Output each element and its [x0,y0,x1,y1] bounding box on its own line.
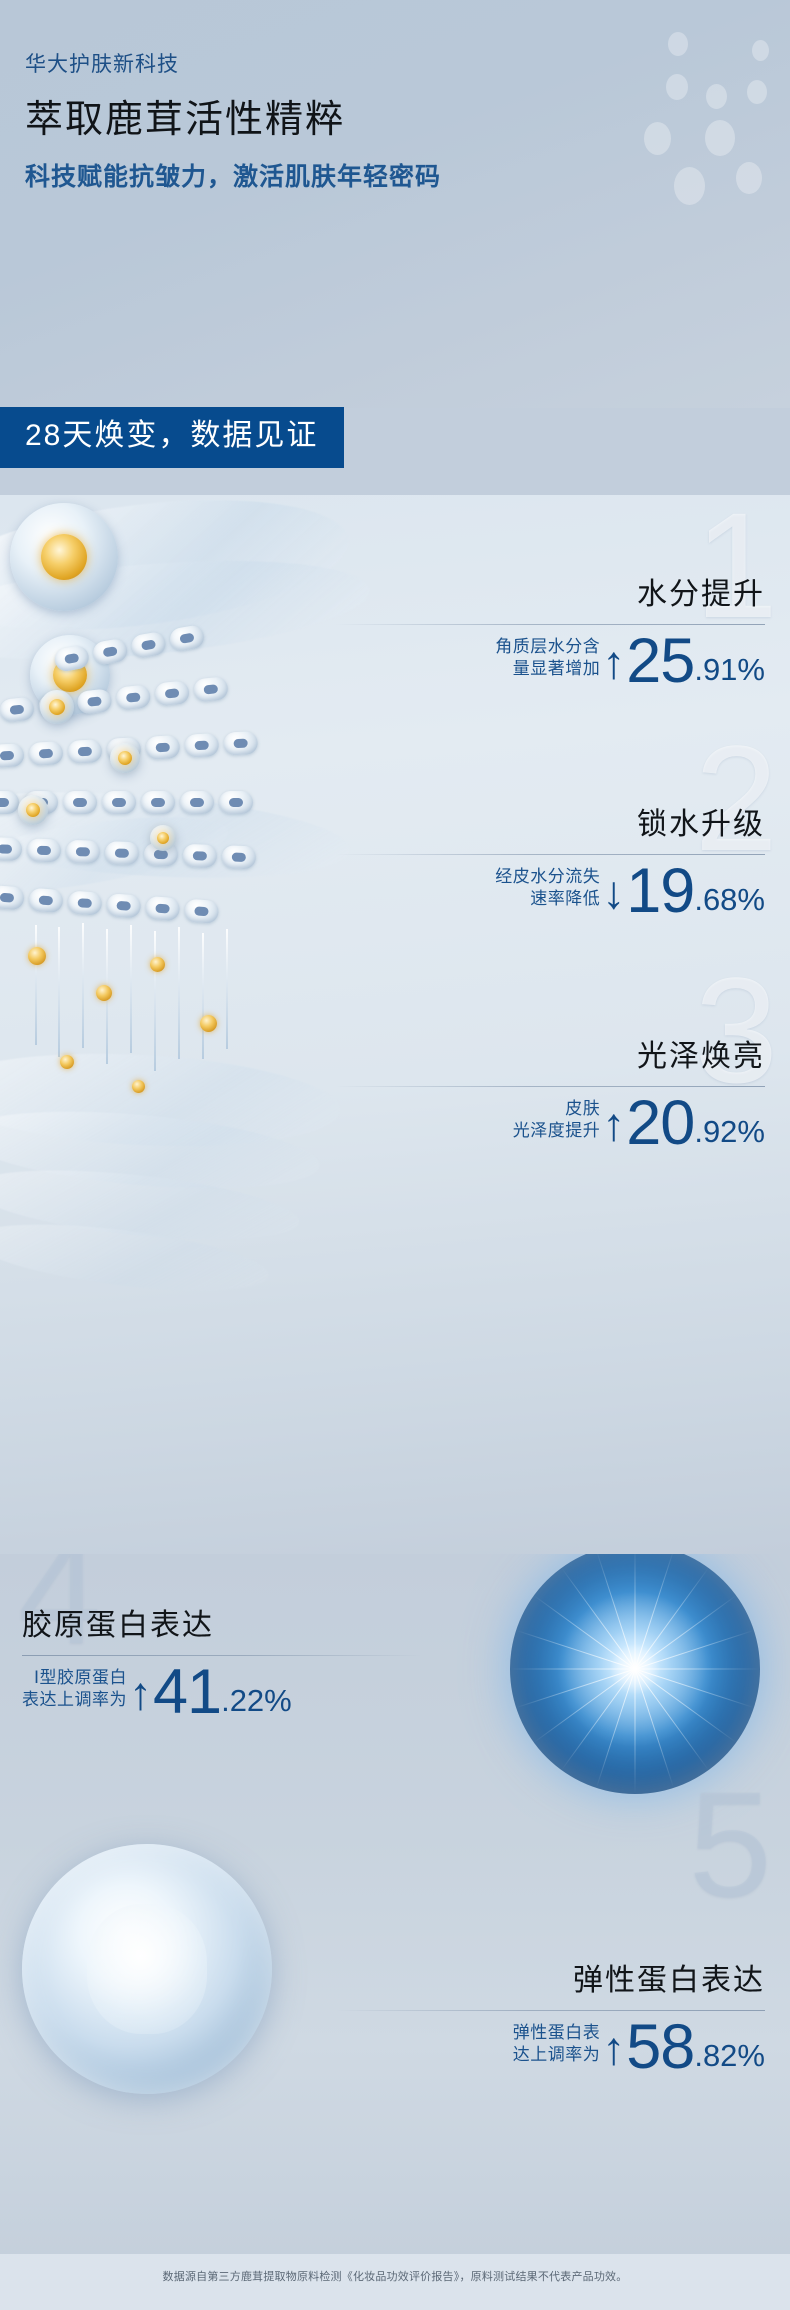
stat-divider [22,1655,422,1656]
ovum-cell [10,503,118,611]
stat-decimal-2: .68% [694,884,765,919]
stat-value-row-2: 经皮水分流失 速率降低 ↓ 19 .68% [335,865,765,919]
cell-experiment-section: 4 胶原蛋白表达 Ⅰ型胶原蛋白 表达上调率为 ↑ 41 .22% 5 弹性蛋白表… [0,1554,790,2254]
stat-number-2: 19 [626,865,694,919]
infographic-page: 华大护肤新科技 萃取鹿茸活性精粹 科技赋能抗皱力，激活肌肤年轻密码 28天焕变，… [0,0,790,2310]
stat-number-3: 20 [626,1097,694,1151]
stat-description-4: Ⅰ型胶原蛋白 表达上调率为 [22,1667,127,1720]
stat-description-2: 经皮水分流失 速率降低 [495,866,600,919]
hero-header: 华大护肤新科技 萃取鹿茸活性精粹 科技赋能抗皱力，激活肌肤年轻密码 [0,0,790,408]
stat-desc-line1: Ⅰ型胶原蛋白 [22,1667,127,1689]
stat-description-3: 皮肤 光泽度提升 [513,1098,601,1151]
stat-divider [335,624,765,625]
stat-value-row-3: 皮肤 光泽度提升 ↑ 20 .92% [335,1097,765,1151]
arrow-up-icon: ↑ [600,643,626,688]
page-title: 萃取鹿茸活性精粹 [25,97,441,145]
stat-number-5: 58 [626,2021,694,2075]
stat-desc-line2: 表达上调率为 [22,1689,127,1711]
stat-desc-line1: 角质层水分含 [495,636,600,658]
stat-divider [335,2010,765,2011]
stat-block-2: 锁水升级 经皮水分流失 速率降低 ↓ 19 .68% [335,808,765,919]
hero-text-block: 华大护肤新科技 萃取鹿茸活性精粹 科技赋能抗皱力，激活肌肤年轻密码 [25,50,441,193]
stat-description-5: 弹性蛋白表 达上调率为 [513,2022,601,2075]
gold-ovum [110,743,140,773]
orb-rays [510,1554,760,1794]
stat-desc-line2: 速率降低 [495,888,600,910]
stat-decimal-4: .22% [221,1685,292,1720]
arrow-down-icon: ↓ [600,873,626,918]
gold-ovum [150,825,176,851]
stat-block-3: 光泽焕亮 皮肤 光泽度提升 ↑ 20 .92% [335,1040,765,1151]
hero-eyebrow: 华大护肤新科技 [25,50,441,79]
arrow-up-icon: ↑ [600,1105,626,1150]
stat-divider [335,1086,765,1087]
gold-ovum [40,690,74,724]
cell-row [0,885,219,924]
stat-desc-line1: 弹性蛋白表 [513,2022,601,2044]
gold-ovum [18,795,48,825]
section-banner-clinical: 28天焕变，数据见证 [0,407,344,468]
skin-illustration-section: 1 水分提升 角质层水分含 量显著增加 ↑ 25 .91% 2 锁水升级 经皮水… [0,495,790,1554]
stat-desc-line2: 量显著增加 [495,658,600,680]
stat-desc-line1: 经皮水分流失 [495,866,600,888]
stat-value-row-1: 角质层水分含 量显著增加 ↑ 25 .91% [335,635,765,689]
stat-desc-line1: 皮肤 [513,1098,601,1120]
stat-divider [335,854,765,855]
stat-block-4: 胶原蛋白表达 Ⅰ型胶原蛋白 表达上调率为 ↑ 41 .22% [22,1609,422,1720]
stat-number-4: 41 [153,1666,221,1720]
stat-block-1: 水分提升 角质层水分含 量显著增加 ↑ 25 .91% [335,578,765,689]
stat-title-4: 胶原蛋白表达 [22,1609,422,1642]
stat-decimal-3: .92% [694,1116,765,1151]
decorative-dot-cluster [540,22,770,252]
stat-value-row-5: 弹性蛋白表 达上调率为 ↑ 58 .82% [335,2021,765,2075]
stat-decimal-1: .91% [694,654,765,689]
stat-title-1: 水分提升 [335,578,765,611]
stat-block-5: 弹性蛋白表达 弹性蛋白表 达上调率为 ↑ 58 .82% [335,1964,765,2075]
stat-desc-line2: 光泽度提升 [513,1120,601,1142]
stat-index-watermark-5: 5 [689,1769,772,1919]
stat-description-1: 角质层水分含 量显著增加 [495,636,600,689]
footer-disclaimer: 数据源自第三方鹿茸提取物原料检测《化妆品功效评价报告》，原料测试结果不代表产品功… [0,2268,790,2284]
stat-title-5: 弹性蛋白表达 [335,1964,765,1997]
stat-desc-line2: 达上调率为 [513,2044,601,2066]
arrow-up-icon: ↑ [127,1674,153,1719]
glowing-orb-image [510,1554,760,1794]
stat-title-2: 锁水升级 [335,808,765,841]
stat-value-row-4: Ⅰ型胶原蛋白 表达上调率为 ↑ 41 .22% [22,1666,422,1720]
stat-decimal-5: .82% [694,2040,765,2075]
stat-title-3: 光泽焕亮 [335,1040,765,1073]
frosted-orb-image [22,1844,272,2094]
hero-subtitle: 科技赋能抗皱力，激活肌肤年轻密码 [25,161,441,194]
stat-number-1: 25 [626,635,694,689]
arrow-up-icon: ↑ [600,2029,626,2074]
